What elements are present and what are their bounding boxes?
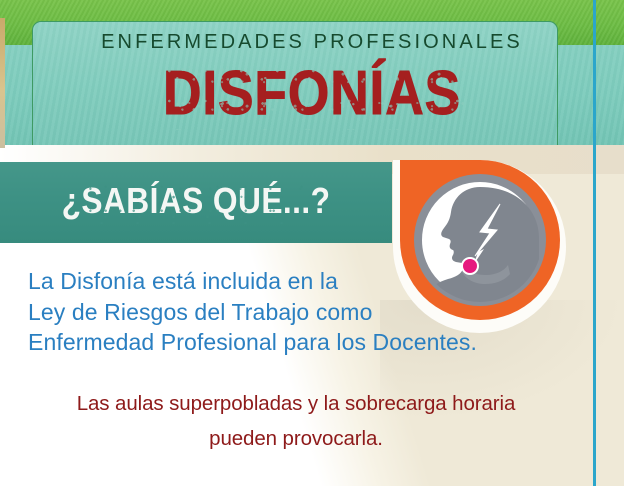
red-line-1: Las aulas superpobladas y la sobrecarga … — [34, 386, 558, 421]
red-paragraph: Las aulas superpobladas y la sobrecarga … — [34, 386, 558, 456]
page-title: DISFONÍAS — [44, 58, 581, 130]
infographic-poster: ENFERMEDADES PROFESIONALES DISFONÍAS ¿SA… — [0, 0, 624, 486]
blue-line-1: La Disfonía está incluida en la — [28, 266, 548, 297]
red-line-2: pueden provocarla. — [34, 421, 558, 456]
right-vertical-blue-rule — [593, 0, 596, 486]
kicker-label: ENFERMEDADES PROFESIONALES — [0, 31, 624, 54]
blue-line-2: Ley de Riesgos del Trabajo como — [28, 297, 548, 328]
section-label: ¿SABÍAS QUÉ...? — [24, 176, 369, 226]
blue-line-3: Enfermedad Profesional para los Docentes… — [28, 327, 548, 358]
blue-paragraph: La Disfonía está incluida en la Ley de R… — [28, 266, 548, 358]
